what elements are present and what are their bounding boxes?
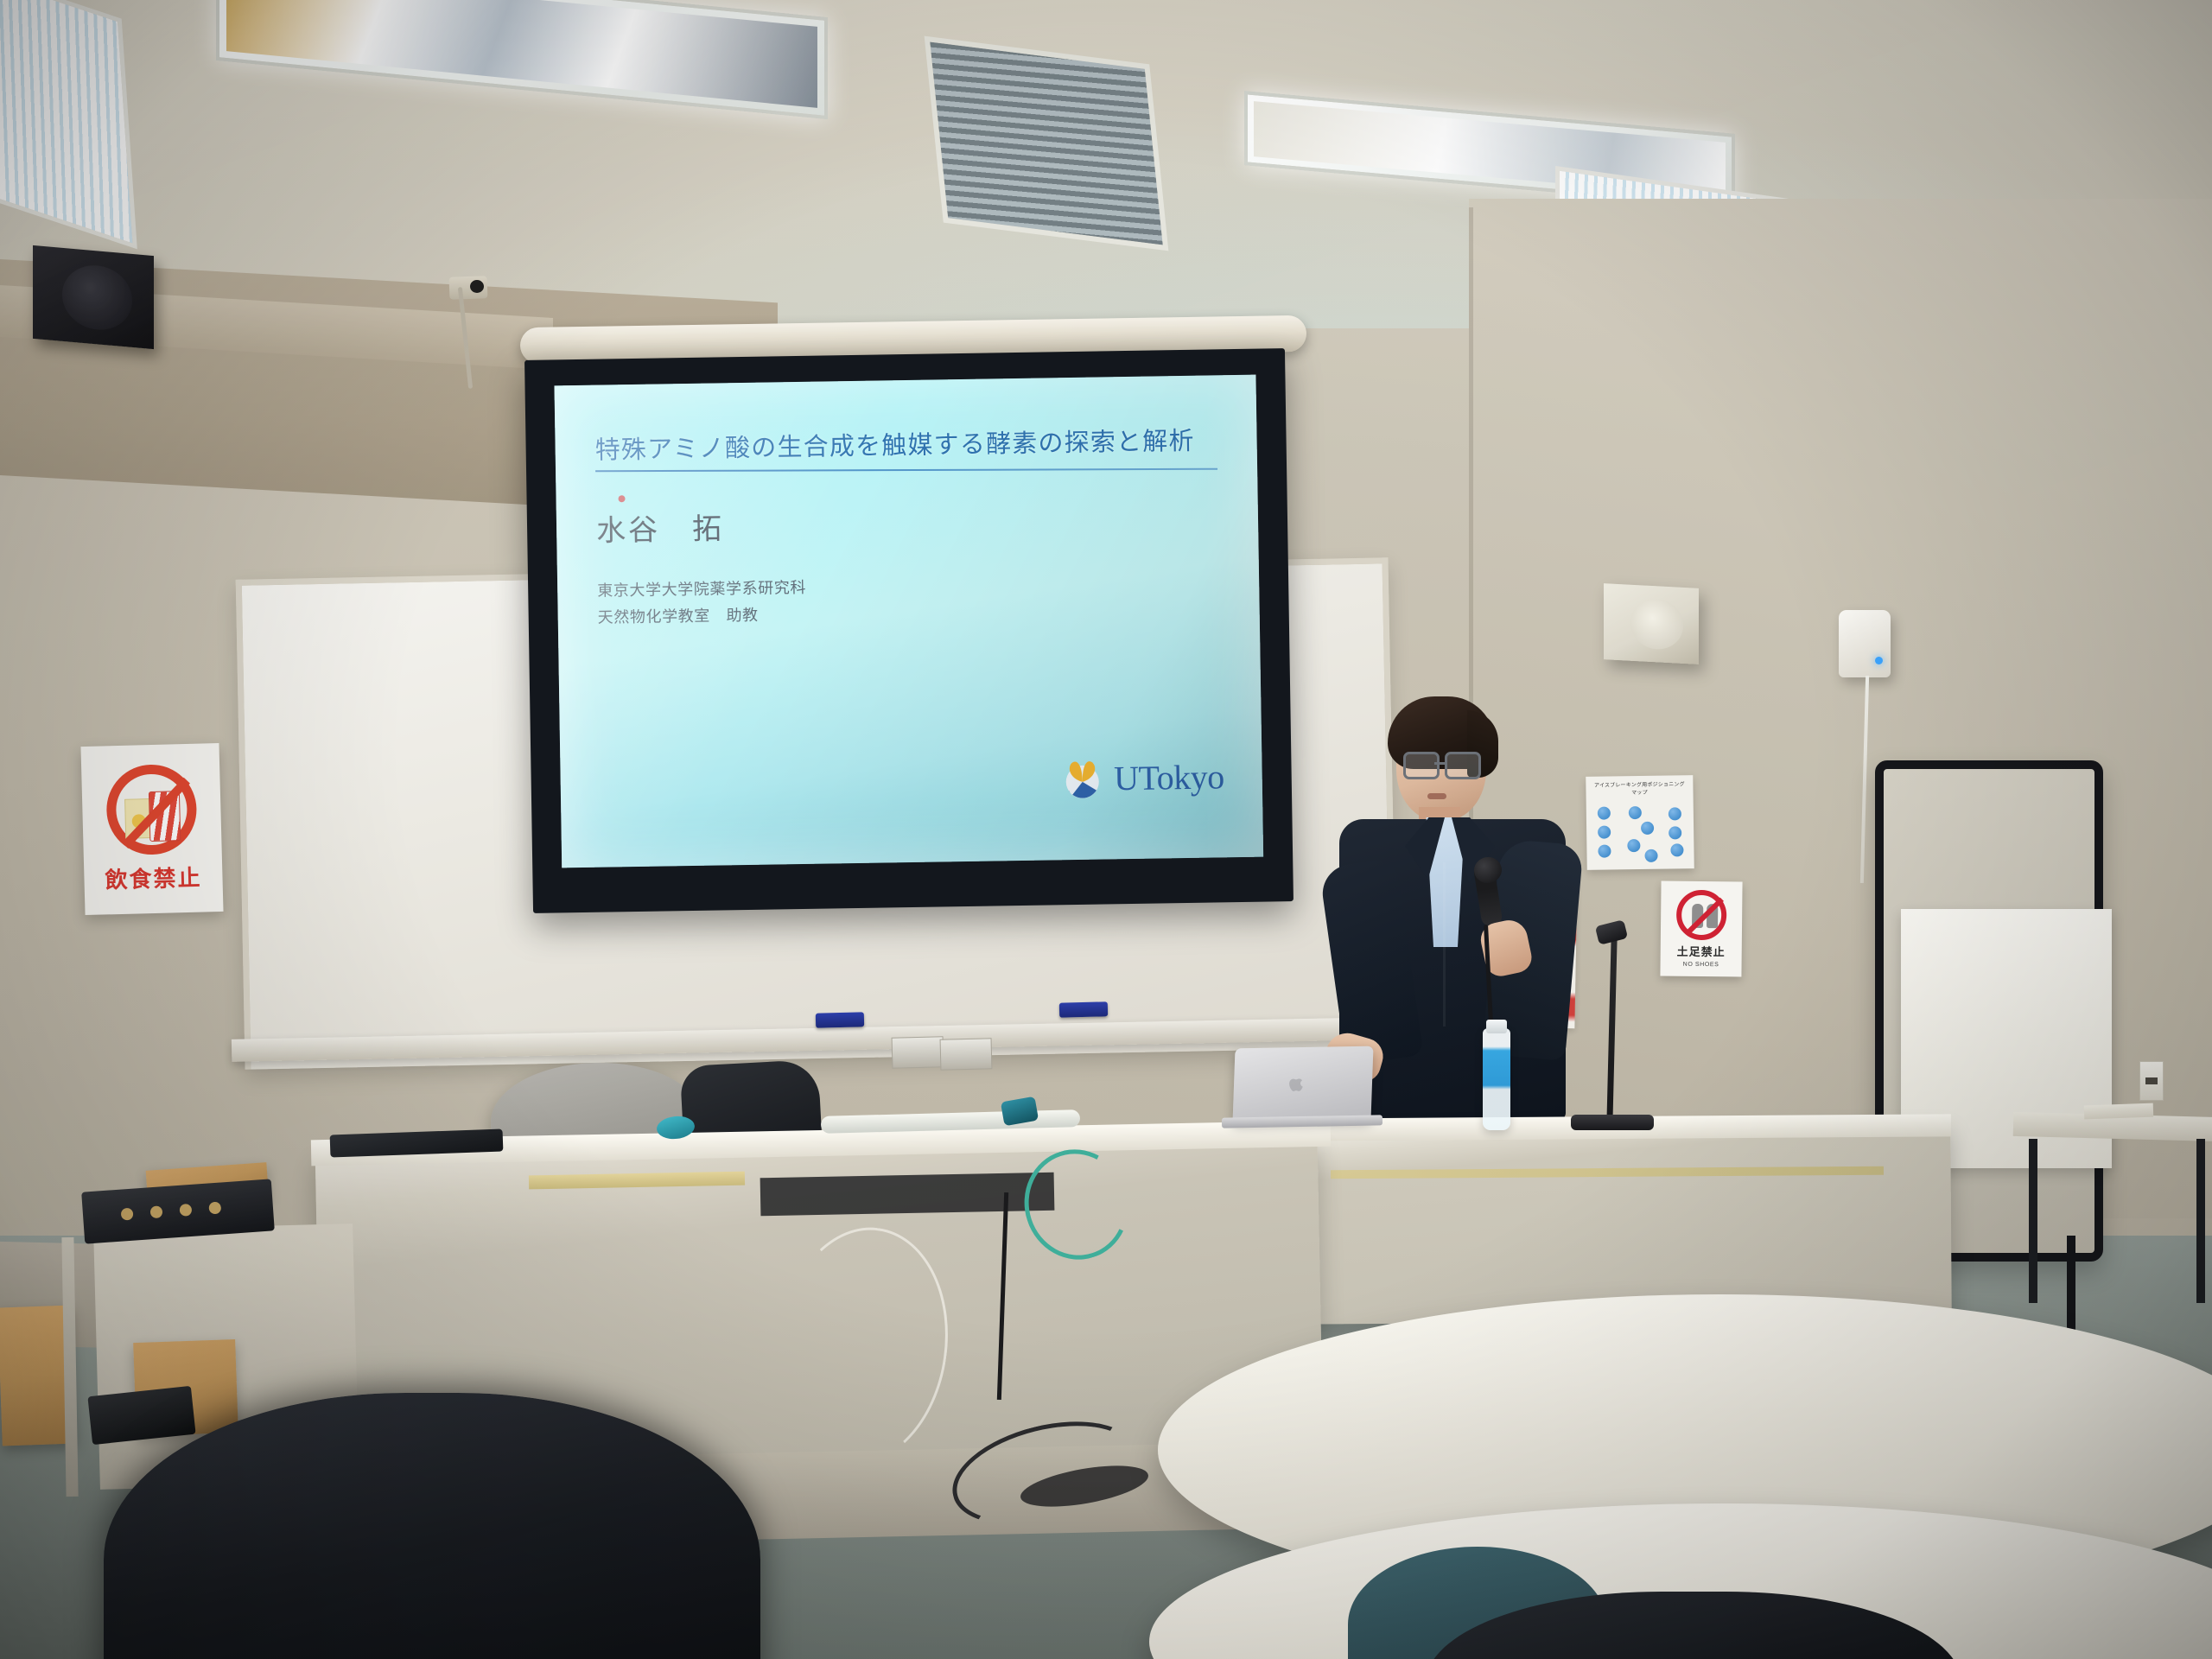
- eyeglasses-icon: [1403, 752, 1440, 779]
- poster-dot: [1644, 849, 1657, 862]
- no-food-sign: 飲食禁止: [80, 743, 223, 915]
- no-food-drink-icon: [105, 764, 198, 856]
- poster-dot: [1669, 826, 1681, 839]
- wifi-access-point-icon: [1839, 610, 1891, 677]
- utokyo-ginkgo-logo-icon: [1060, 755, 1106, 801]
- apple-logo-icon: [1289, 1075, 1305, 1092]
- projector-mount-bolt: [470, 280, 484, 293]
- side-table-papers: [2084, 1103, 2154, 1120]
- poster-dot: [1669, 807, 1681, 820]
- ceiling-corner-speaker-icon: [33, 245, 154, 349]
- whiteboard-eraser-icon[interactable]: [940, 1038, 993, 1071]
- water-bottle-cap: [1486, 1020, 1507, 1033]
- slide-title: 特殊アミノ酸の生合成を触媒する酵素の探索と解析: [594, 420, 1217, 466]
- affiliation-line-2: 天然物化学教室 助教: [597, 595, 1219, 632]
- ceiling-air-vent-1: [925, 36, 1169, 251]
- eyeglasses-icon: [1445, 752, 1481, 779]
- front-desk-cable-gap: [760, 1173, 1055, 1217]
- utokyo-logo: UTokyo: [1060, 753, 1224, 801]
- no-shoes-sign: 土足禁止 NO SHOES: [1660, 881, 1742, 977]
- slide-presenter-name: 水谷 拓: [596, 497, 1219, 549]
- microphone-stand-base: [1571, 1115, 1654, 1130]
- poster-dot: [1627, 839, 1640, 852]
- poster-dot: [1598, 806, 1611, 819]
- laser-pointer-dot: [618, 495, 625, 502]
- poster-dot: [1641, 822, 1654, 835]
- dot-chart-grid: [1592, 804, 1688, 862]
- poster-dot: [1629, 806, 1642, 819]
- slide-surface: 特殊アミノ酸の生合成を触媒する酵素の探索と解析 水谷 拓 東京大学大学院薬学系研…: [554, 375, 1263, 868]
- no-shoes-icon: [1676, 890, 1727, 941]
- poster-dot: [1598, 844, 1611, 857]
- presentation-slide: 特殊アミノ酸の生合成を触媒する酵素の探索と解析 水谷 拓 東京大学大学院薬学系研…: [554, 375, 1263, 868]
- eyeglasses-bridge: [1434, 762, 1446, 765]
- poster-dot: [1670, 843, 1683, 856]
- slide-title-underline: [595, 468, 1217, 473]
- no-shoes-sign-label-en: NO SHOES: [1683, 962, 1719, 968]
- lectern-desk-right: [1294, 1121, 1952, 1324]
- utokyo-logo-text: UTokyo: [1114, 756, 1224, 798]
- side-table-legs: [2022, 1139, 2212, 1303]
- dot-chart-poster-title: アイスブレーキング用ポジショニングマップ: [1592, 781, 1687, 798]
- presenter-mouth: [1427, 793, 1446, 799]
- lecture-room-photo: 特殊アミノ酸の生合成を触媒する酵素の探索と解析 水谷 拓 東京大学大学院薬学系研…: [0, 0, 2212, 1659]
- blue-marker-icon[interactable]: [816, 1012, 864, 1027]
- projection-screen: 特殊アミノ酸の生合成を触媒する酵素の探索と解析 水谷 拓 東京大学大学院薬学系研…: [524, 348, 1294, 913]
- wifi-status-led: [1875, 657, 1883, 664]
- wall-power-outlet[interactable]: [2139, 1061, 2164, 1101]
- blue-marker-icon[interactable]: [1059, 1001, 1108, 1017]
- no-food-sign-label: 飲食禁止: [105, 861, 202, 895]
- no-shoes-sign-label-jp: 土足禁止: [1677, 943, 1726, 960]
- presenter-jacket-seam: [1443, 862, 1446, 1027]
- dot-chart-poster: アイスブレーキング用ポジショニングマップ: [1586, 775, 1694, 870]
- wall-speaker-icon: [1604, 583, 1699, 664]
- slide-affiliation: 東京大学大学院薬学系研究科 天然物化学教室 助教: [597, 569, 1220, 632]
- affiliation-line-1: 東京大学大学院薬学系研究科: [597, 569, 1219, 605]
- water-bottle-icon: [1483, 1028, 1510, 1130]
- poster-dot: [1598, 825, 1611, 838]
- whiteboard-eraser-icon[interactable]: [892, 1036, 944, 1069]
